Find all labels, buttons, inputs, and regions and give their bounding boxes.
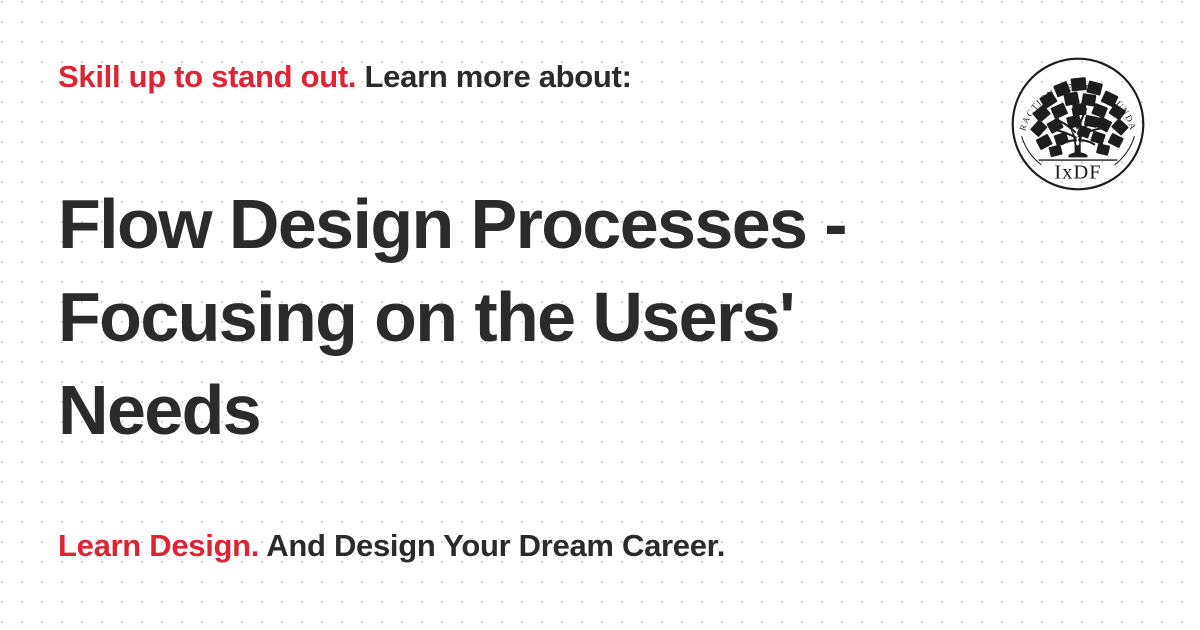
tagline-rest-text: And Design Your Dream Career. xyxy=(259,528,725,563)
ixdf-logo: INTERACTION DESIGN FOUNDATION xyxy=(1010,56,1146,192)
social-card: Skill up to stand out. Learn more about:… xyxy=(0,0,1200,630)
tagline-line: Learn Design. And Design Your Dream Care… xyxy=(58,526,1058,566)
logo-tree-icon xyxy=(1030,77,1129,157)
page-title: Flow Design Processes - Focusing on the … xyxy=(58,178,938,457)
logo-wordmark: IxDF xyxy=(1054,161,1101,183)
eyebrow-line: Skill up to stand out. Learn more about: xyxy=(58,57,958,97)
eyebrow-rest-text: Learn more about: xyxy=(356,59,631,94)
tagline-accent-text: Learn Design. xyxy=(58,528,259,563)
eyebrow-accent-text: Skill up to stand out. xyxy=(58,59,356,94)
